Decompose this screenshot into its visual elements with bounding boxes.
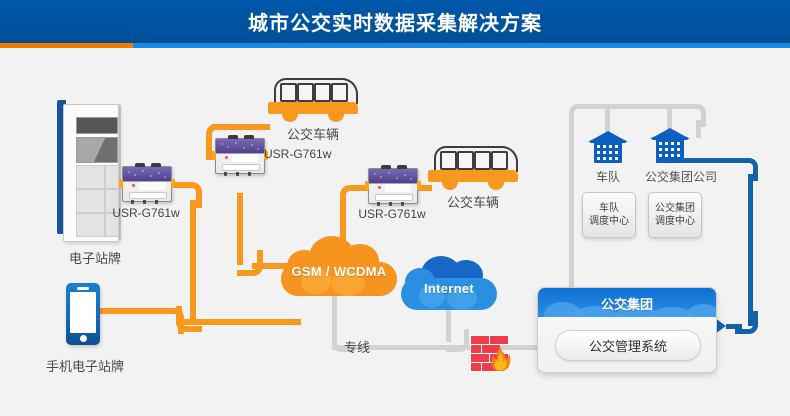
- building-body: [594, 141, 622, 163]
- usr-g761w-device-2-label: USR-G761w: [264, 147, 331, 161]
- blue-elbow-bottomright: [735, 311, 758, 334]
- gray-drop-building1: [605, 108, 610, 132]
- internet-cloud-label: Internet: [401, 281, 497, 296]
- bus-vehicle-1-label: 公交车辆: [268, 124, 358, 143]
- device-faceplate: [216, 139, 264, 153]
- usr-g761w-device-1-label: USR-G761w: [110, 206, 182, 220]
- gsm-wcdma-cloud-label: GSM / WCDMA: [281, 264, 397, 279]
- bus-window: [457, 151, 474, 170]
- orange-elbow-device1: [176, 182, 202, 208]
- orange-link-phone: [100, 308, 164, 314]
- usr-g761w-device-3-label: USR-G761w: [356, 207, 428, 221]
- device-faceplate: [369, 169, 417, 183]
- leased-line-label: 专线: [344, 337, 370, 356]
- flame-icon: [490, 346, 511, 373]
- bus-group-dispatch-center-box[interactable]: 公交集团 调度中心: [648, 192, 702, 238]
- building-body: [656, 138, 684, 163]
- bus-group-panel-header: 公交集团: [538, 288, 716, 317]
- page-header: 城市公交实时数据采集解决方案: [0, 0, 790, 43]
- orange-trunk-horizontal: [176, 319, 301, 325]
- mobile-station-sign[interactable]: [66, 283, 100, 345]
- device-port-right: [171, 179, 175, 188]
- bus-window: [331, 83, 348, 102]
- usr-g761w-device-2[interactable]: [215, 138, 265, 174]
- dispatch-line-2: 调度中心: [589, 215, 629, 228]
- electronic-station-sign-label: 电子站牌: [55, 248, 135, 267]
- building-fleet-label: 车队: [578, 168, 638, 185]
- phone-home-button: [80, 335, 87, 342]
- building-bus-group-label: 公交集团公司: [633, 168, 729, 185]
- bus-window: [297, 83, 314, 102]
- page-title: 城市公交实时数据采集解决方案: [0, 0, 790, 43]
- mobile-station-sign-label: 手机电子站牌: [35, 356, 135, 375]
- device-label-plate: [139, 182, 165, 190]
- firewall-icon: [470, 334, 510, 374]
- blue-link-vertical: [748, 174, 753, 326]
- blue-elbow-topright: [735, 158, 758, 181]
- building-bus-group-icon[interactable]: [650, 128, 690, 160]
- dispatch-line-1: 车队: [589, 202, 629, 215]
- device-bottom-strip: [129, 192, 167, 199]
- dispatch-line-1: 公交集团: [655, 202, 695, 215]
- bus-group-dispatch-center-text: 公交集团 调度中心: [655, 202, 695, 228]
- bus-wheel: [488, 174, 504, 190]
- bus-group-panel[interactable]: 公交集团 公交管理系统: [537, 287, 717, 373]
- header-accent-blue: [133, 43, 790, 48]
- kiosk-body: [63, 104, 119, 242]
- bus-wheel: [442, 174, 458, 190]
- device-led: [225, 156, 228, 159]
- bus-management-system-button[interactable]: 公交管理系统: [555, 330, 701, 361]
- usr-g761w-device-1[interactable]: [122, 166, 172, 202]
- bus-vehicle-2[interactable]: [428, 146, 518, 190]
- device-faceplate: [123, 167, 171, 181]
- bus-management-system-label: 公交管理系统: [589, 336, 667, 355]
- gray-elbow-internet: [446, 329, 469, 352]
- diagram-canvas: 城市公交实时数据采集解决方案: [0, 0, 790, 416]
- bus-group-panel-title: 公交集团: [538, 294, 716, 313]
- kiosk-panel-row: [76, 165, 105, 189]
- bus-window: [440, 151, 457, 170]
- device-label-plate: [232, 154, 258, 162]
- device-port-right: [417, 181, 421, 190]
- device-led: [132, 184, 135, 187]
- device-label-plate: [385, 184, 411, 192]
- internet-cloud[interactable]: Internet: [401, 256, 497, 312]
- kiosk-display-top: [76, 117, 118, 134]
- gray-elbow-topright: [683, 104, 706, 127]
- kiosk-panel-row: [105, 165, 119, 189]
- kiosk-panel-row: [76, 213, 105, 237]
- bus-wheel: [328, 106, 344, 122]
- device-port-left: [119, 179, 123, 188]
- device-bottom-strip: [375, 194, 413, 201]
- fleet-dispatch-center-box[interactable]: 车队 调度中心: [582, 192, 636, 238]
- gsm-wcdma-cloud[interactable]: GSM / WCDMA: [281, 236, 397, 298]
- phone-screen: [70, 292, 96, 333]
- bus-window: [474, 151, 491, 170]
- phone-speaker: [77, 287, 89, 290]
- orange-elbow-phone: [158, 308, 184, 334]
- dispatch-line-2: 调度中心: [655, 215, 695, 228]
- building-fleet-icon[interactable]: [588, 131, 628, 163]
- bus-wheel: [282, 106, 298, 122]
- gray-link-right-vertical: [696, 120, 701, 138]
- kiosk-display-main: [76, 137, 118, 163]
- kiosk-panel-row: [76, 189, 105, 213]
- bus-window: [491, 151, 508, 170]
- device-led: [378, 186, 381, 189]
- usr-g761w-device-3[interactable]: [368, 168, 418, 204]
- header-accent-orange: [0, 43, 133, 48]
- device-bottom-strip: [222, 164, 260, 171]
- device-port-left: [212, 151, 216, 160]
- bus-window: [280, 83, 297, 102]
- fleet-dispatch-center-text: 车队 调度中心: [589, 202, 629, 228]
- bus-vehicle-2-label: 公交车辆: [428, 192, 518, 211]
- bus-vehicle-1[interactable]: [268, 78, 358, 122]
- device-port-left: [365, 181, 369, 190]
- blue-link-into-panel: [726, 324, 742, 329]
- bus-window: [314, 83, 331, 102]
